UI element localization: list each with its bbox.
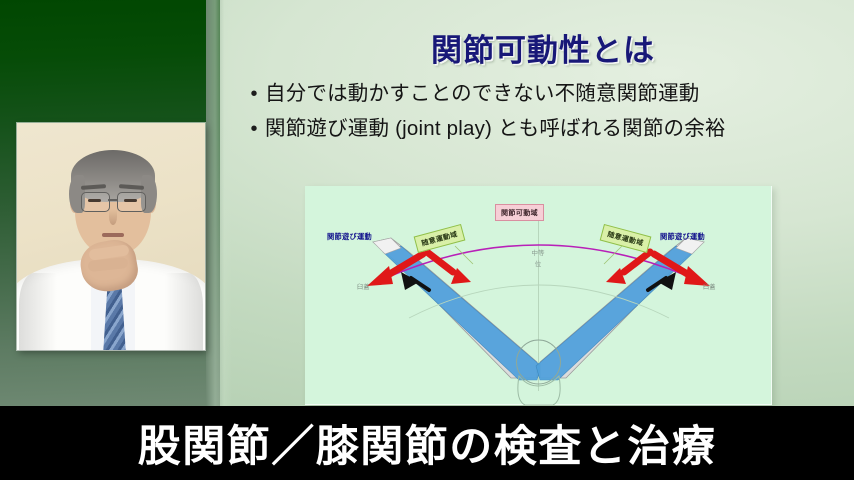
range-of-motion-label: 関節可動域 [495, 204, 544, 221]
list-item: • 自分では動かすことのできない不随意関節運動 [243, 81, 843, 107]
bullet-text: 関節遊び運動 (joint play) とも呼ばれる関節の余裕 [265, 116, 726, 142]
bullet-marker-icon: • [243, 81, 265, 107]
joint-play-label-left: 関節遊び運動 [327, 232, 372, 242]
neutral-position-label: 中等位 [531, 248, 545, 270]
presenter-eye-right [124, 199, 137, 202]
presenter-eye-left [88, 199, 101, 202]
presenter-nose [109, 209, 117, 225]
joint-play-label-right: 関節遊び運動 [660, 232, 705, 242]
coat-shadow-left [19, 273, 57, 350]
bullet-marker-icon: • [243, 116, 265, 142]
glasses-lens-left [81, 192, 110, 212]
acetabulum-label-left: 臼蓋 [357, 282, 370, 291]
acetabulum-label-right: 臼蓋 [703, 282, 716, 291]
presenter-video [17, 123, 205, 350]
list-item: • 関節遊び運動 (joint play) とも呼ばれる関節の余裕 [243, 116, 843, 142]
caption-title: 股関節／膝関節の検査と治療 [0, 406, 854, 480]
glasses-bridge [108, 199, 117, 201]
presenter-mouth [102, 233, 124, 237]
joint-range-of-motion-diagram: 関節可動域 随意運動域 随意運動域 関節遊び運動 関節遊び運動 臼蓋 臼蓋 中等… [305, 186, 772, 405]
bullet-list: • 自分では動かすことのできない不随意関節運動 • 関節遊び運動 (joint … [243, 81, 843, 151]
bullet-text: 自分では動かすことのできない不随意関節運動 [265, 81, 700, 107]
slide-title: 関節可動性とは [232, 25, 854, 70]
leader-line-right [604, 246, 622, 264]
background-gradient-fade [206, 0, 232, 406]
glasses-lens-right [117, 192, 146, 212]
lecture-slide: 関節可動性とは • 自分では動かすことのできない不随意関節運動 • 関節遊び運動… [0, 0, 854, 480]
coat-shadow-right [165, 273, 203, 350]
